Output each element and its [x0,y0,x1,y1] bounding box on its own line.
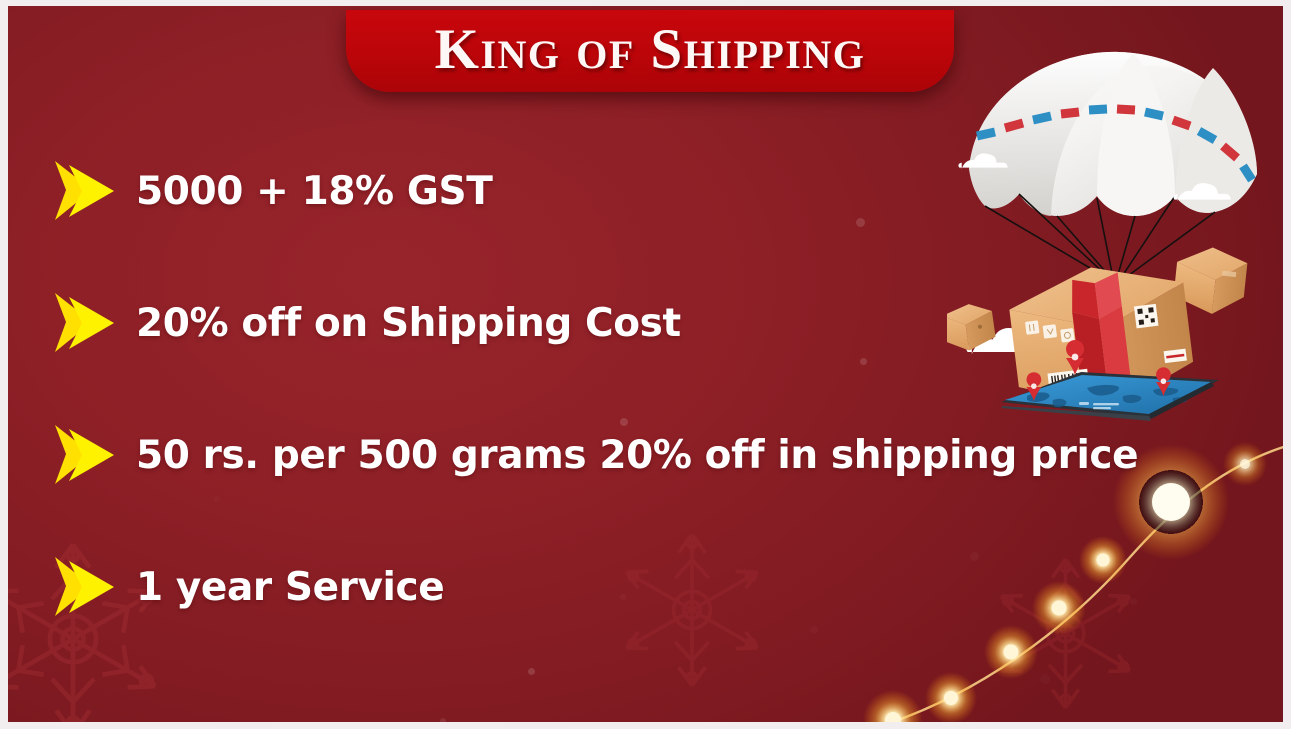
list-item: 20% off on Shipping Cost [52,288,1232,358]
list-item: 5000 + 18% GST [52,156,1232,226]
double-chevron-icon [52,291,120,355]
title-banner: King of Shipping [346,10,954,92]
list-item-label: 1 year Service [136,568,444,607]
list-item-label: 50 rs. per 500 grams 20% off in shipping… [136,436,1138,475]
list-item: 1 year Service [52,552,1232,622]
page-title: King of Shipping [435,21,866,82]
double-chevron-icon [52,555,120,619]
list-item-label: 20% off on Shipping Cost [136,304,681,343]
offer-list: 5000 + 18% GST 20% off on Shipping Cost … [52,156,1232,622]
double-chevron-icon [52,159,120,223]
list-item-label: 5000 + 18% GST [136,172,492,211]
list-item: 50 rs. per 500 grams 20% off in shipping… [52,420,1232,490]
bokeh-dot [810,626,818,634]
bokeh-dot [528,668,535,675]
double-chevron-icon [52,423,120,487]
bokeh-dot [440,718,446,722]
promo-banner: King of Shipping 5000 + 18% GST 20% off … [8,6,1283,722]
